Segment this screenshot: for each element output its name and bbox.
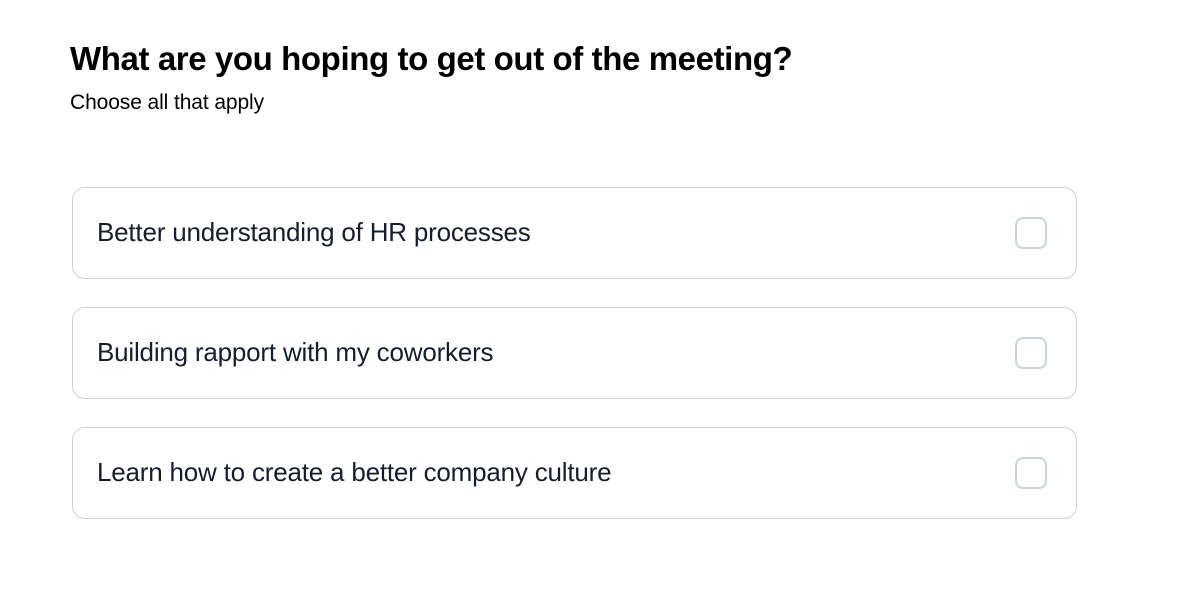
option-card-better-understanding-of-hr-processes[interactable]: Better understanding of HR processes <box>72 187 1077 279</box>
checkbox-unchecked-icon[interactable] <box>1015 457 1047 489</box>
option-label: Better understanding of HR processes <box>97 217 531 248</box>
option-label: Learn how to create a better company cul… <box>97 457 611 488</box>
checkbox-unchecked-icon[interactable] <box>1015 337 1047 369</box>
question-instruction: Choose all that apply <box>70 79 1080 115</box>
question-header: What are you hoping to get out of the me… <box>70 40 1080 115</box>
page-title: What are you hoping to get out of the me… <box>70 40 1080 79</box>
options-list: Better understanding of HR processes Bui… <box>72 187 1077 519</box>
option-card-learn-how-to-create-a-better-company-culture[interactable]: Learn how to create a better company cul… <box>72 427 1077 519</box>
option-card-building-rapport-with-my-coworkers[interactable]: Building rapport with my coworkers <box>72 307 1077 399</box>
checkbox-unchecked-icon[interactable] <box>1015 217 1047 249</box>
option-label: Building rapport with my coworkers <box>97 337 493 368</box>
survey-question-screen: What are you hoping to get out of the me… <box>0 0 1178 604</box>
